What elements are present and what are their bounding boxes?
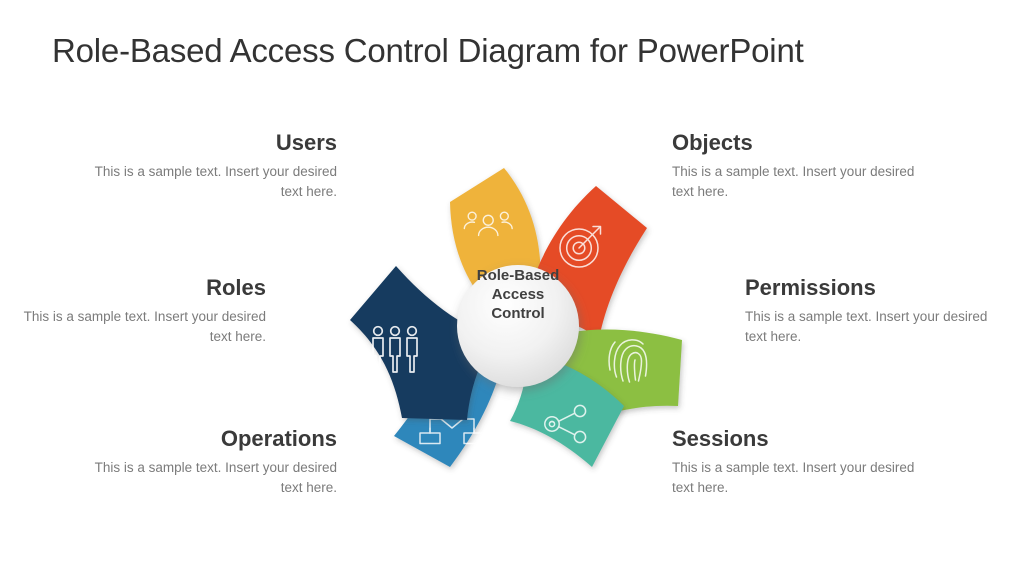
hub-label-line-3: Control	[458, 304, 578, 323]
segment-text-permissions: Permissions This is a sample text. Inser…	[745, 276, 1007, 348]
segment-body-operations: This is a sample text. Insert your desir…	[75, 458, 337, 499]
segment-text-roles: Roles This is a sample text. Insert your…	[4, 276, 266, 348]
hub-label-line-2: Access	[458, 285, 578, 304]
segment-label-roles: Roles	[4, 276, 266, 300]
hub-label: Role-Based Access Control	[458, 266, 578, 324]
segment-text-users: Users This is a sample text. Insert your…	[75, 131, 337, 203]
segment-label-permissions: Permissions	[745, 276, 1007, 300]
slide-canvas: Role-Based Access Control Diagram for Po…	[0, 0, 1024, 576]
segment-body-users: This is a sample text. Insert your desir…	[75, 162, 337, 203]
page-title: Role-Based Access Control Diagram for Po…	[52, 32, 804, 70]
segment-label-operations: Operations	[75, 427, 337, 451]
segment-body-permissions: This is a sample text. Insert your desir…	[745, 307, 1007, 348]
segment-text-operations: Operations This is a sample text. Insert…	[75, 427, 337, 499]
hub-label-line-1: Role-Based	[458, 266, 578, 285]
pinwheel-diagram: Role-Based Access Control	[318, 140, 718, 510]
segment-label-users: Users	[75, 131, 337, 155]
segment-body-roles: This is a sample text. Insert your desir…	[4, 307, 266, 348]
